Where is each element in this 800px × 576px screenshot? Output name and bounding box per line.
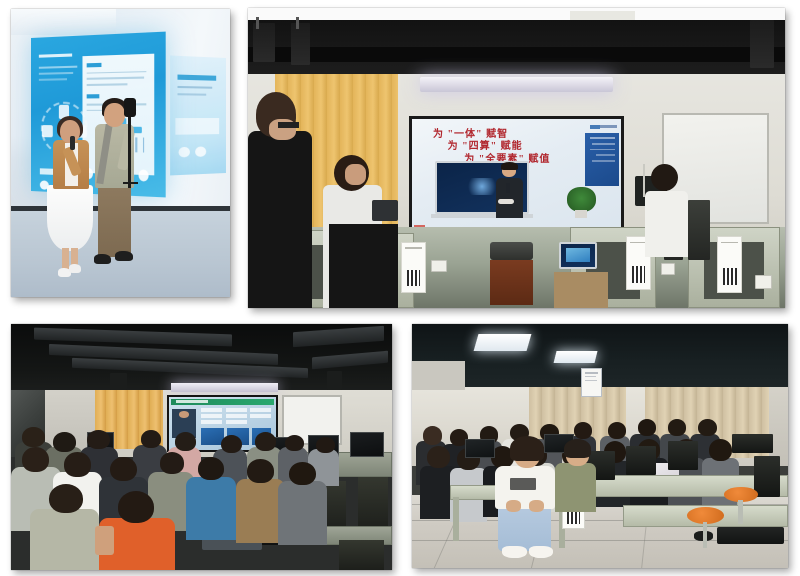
tablet-display bbox=[559, 242, 597, 269]
screen-plant bbox=[567, 187, 596, 212]
showroom-secondary-slide bbox=[170, 55, 226, 175]
photo-lab-room[interactable] bbox=[11, 324, 392, 570]
keyboard bbox=[717, 527, 785, 544]
photo-collage: 为 "一体" 赋智 为 "四算" 赋能 为 "全要素" 赋值 bbox=[0, 0, 800, 576]
projector bbox=[490, 242, 533, 260]
camera-icon bbox=[124, 98, 136, 117]
lab-scene bbox=[11, 324, 392, 570]
photo-audience-room[interactable] bbox=[412, 324, 788, 568]
desktop-tower bbox=[754, 456, 780, 497]
wall-outlet bbox=[431, 260, 447, 272]
lecture-light-bar bbox=[420, 77, 613, 92]
lecture-scene: 为 "一体" 赋智 为 "四算" 赋能 为 "全要素" 赋值 bbox=[248, 8, 785, 308]
monitor bbox=[465, 439, 495, 459]
desktop-tower bbox=[626, 446, 656, 475]
handheld-microphone-icon bbox=[70, 136, 75, 150]
audience-scene bbox=[412, 324, 788, 568]
desk-sign bbox=[401, 242, 426, 293]
cardboard-box bbox=[554, 272, 608, 308]
ceiling-light-panel bbox=[473, 334, 531, 351]
showroom-scene bbox=[11, 9, 230, 297]
wooden-stool bbox=[490, 260, 533, 305]
desk-sign bbox=[717, 236, 742, 293]
photo-lecture-room[interactable]: 为 "一体" 赋智 为 "四算" 赋能 为 "全要素" 赋值 bbox=[248, 8, 785, 308]
wall-notice bbox=[581, 368, 602, 397]
wall-outlet bbox=[661, 263, 675, 275]
wall-outlet bbox=[755, 275, 771, 289]
desktop-tower bbox=[688, 200, 709, 260]
photo-showroom[interactable] bbox=[11, 9, 230, 297]
monopod-icon bbox=[128, 113, 131, 188]
lab-light-bar bbox=[171, 383, 278, 392]
ceiling-light-panel bbox=[553, 351, 597, 363]
desktop-tower bbox=[668, 441, 698, 470]
lecture-projection-screen: 为 "一体" 赋智 为 "四算" 赋能 为 "全要素" 赋值 bbox=[409, 116, 624, 236]
desktop-tower bbox=[732, 434, 773, 454]
